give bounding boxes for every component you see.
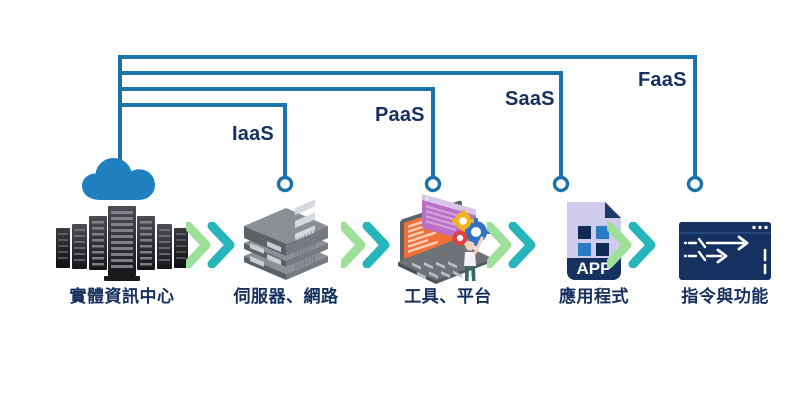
stage-row: 實體資訊中心 <box>0 196 800 326</box>
service-label-faas: FaaS <box>638 70 687 90</box>
service-label-paas: PaaS <box>375 105 425 125</box>
stage-functions: 指令與功能 <box>655 196 795 307</box>
diagram-canvas: IaaS PaaS SaaS FaaS <box>0 0 800 400</box>
stage-caption: 實體資訊中心 <box>52 288 192 307</box>
service-label-saas: SaaS <box>505 89 555 109</box>
stage-caption: 應用程式 <box>524 288 664 307</box>
datacenter-racks-icon <box>52 196 192 284</box>
terminal-window-icon <box>655 196 795 284</box>
service-label-iaas: IaaS <box>232 124 274 144</box>
server-stack-icon <box>216 196 356 284</box>
stage-caption: 指令與功能 <box>655 288 795 307</box>
stage-datacenter: 實體資訊中心 <box>52 196 192 307</box>
stage-caption: 伺服器、網路 <box>216 288 356 307</box>
stage-caption: 工具、平台 <box>378 288 518 307</box>
stage-servers: 伺服器、網路 <box>216 196 356 307</box>
